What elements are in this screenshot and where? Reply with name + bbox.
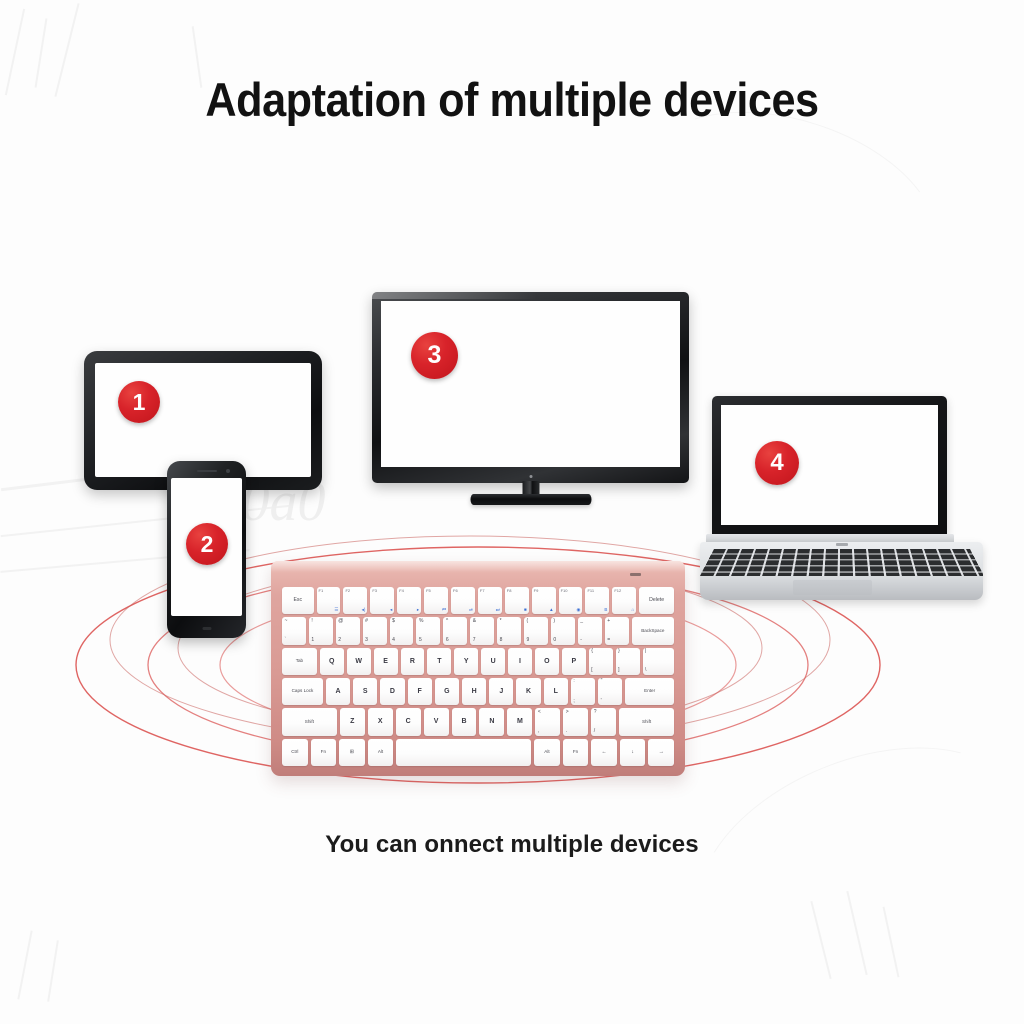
watermark-stroke <box>883 907 900 978</box>
key-h[interactable]: H <box>462 678 486 705</box>
key-label-upper: ) <box>553 619 555 624</box>
key-function-icon: ⏭ <box>496 608 500 613</box>
key-function-icon: ◉ <box>577 608 581 613</box>
key-space[interactable]: @2 <box>336 617 360 644</box>
watermark-stroke <box>5 9 25 95</box>
device-tv <box>372 292 689 483</box>
key-label-lower: [ <box>591 668 592 673</box>
key-function-icon: B <box>604 608 607 613</box>
key-label: T <box>437 658 441 665</box>
key-label: X <box>378 718 383 725</box>
key-label-lower: 4 <box>392 638 395 643</box>
key-label-lower: \ <box>645 668 646 673</box>
phone-home-indicator <box>202 627 211 630</box>
key-space[interactable]: += <box>605 617 629 644</box>
key-d[interactable]: D <box>380 678 404 705</box>
key-function-icon: ⏮ <box>442 608 446 613</box>
key-fn[interactable]: Fn <box>563 739 589 766</box>
key-label-lower: 5 <box>419 638 422 643</box>
key-s[interactable]: S <box>353 678 377 705</box>
key-label: U <box>491 658 496 665</box>
laptop-base <box>700 542 983 600</box>
key-f10[interactable]: F10◉ <box>559 587 583 614</box>
key-space[interactable]: :; <box>571 678 595 705</box>
device-badge-tv: 3 <box>411 332 458 379</box>
key-space[interactable]: ⊞ <box>339 739 365 766</box>
key-function-icon: ◂ <box>390 608 392 613</box>
device-badge-tablet: 1 <box>118 381 160 423</box>
key-label: F4 <box>399 589 404 593</box>
key-function-icon: ⌂ <box>632 608 635 613</box>
key-label-lower: / <box>594 729 595 734</box>
key-n[interactable]: N <box>479 708 504 735</box>
key-label-lower: ' <box>601 699 602 704</box>
key-label: M <box>517 718 523 725</box>
key-f8[interactable]: F8■ <box>505 587 529 614</box>
keyboard-row: ShiftZXCVBNM<,>.?/Shift <box>282 708 674 735</box>
key-label-lower: 0 <box>553 638 556 643</box>
product-infographic: D esign \u00a0 Adaptation of multiple de… <box>0 0 1024 1024</box>
key-label: F3 <box>372 589 377 593</box>
key-space[interactable]: → <box>648 739 674 766</box>
key-label-lower: - <box>580 638 582 643</box>
device-badge-phone: 2 <box>186 523 228 565</box>
tv-power-led-icon <box>529 475 532 478</box>
key-f4[interactable]: F4▸ <box>397 587 421 614</box>
key-space[interactable]: ↓ <box>620 739 646 766</box>
key-m[interactable]: M <box>507 708 532 735</box>
key-space[interactable]: #3 <box>363 617 387 644</box>
watermark-stroke <box>1 505 290 537</box>
key-l[interactable]: L <box>544 678 568 705</box>
key-label: F12 <box>614 589 621 593</box>
page-title: Adaptation of multiple devices <box>41 72 983 127</box>
page-caption: You can onnect multiple devices <box>0 831 1024 859</box>
key-label: F5 <box>426 589 431 593</box>
key-label: P <box>571 658 576 665</box>
key-space[interactable]: >. <box>563 708 588 735</box>
key-space[interactable]: }] <box>616 648 640 675</box>
key-ctrl[interactable]: Ctrl <box>282 739 308 766</box>
key-label: I <box>519 658 521 665</box>
key-label-upper: ^ <box>446 619 448 624</box>
key-i[interactable]: I <box>508 648 532 675</box>
key-shift[interactable]: Shift <box>282 708 337 735</box>
key-space[interactable]: ← <box>591 739 617 766</box>
key-label-upper: | <box>645 649 646 654</box>
key-label: Caps Lock <box>292 689 314 694</box>
key-x[interactable]: X <box>368 708 393 735</box>
key-label-upper: " <box>601 679 603 684</box>
key-caps-lock[interactable]: Caps Lock <box>282 678 323 705</box>
key-label: G <box>444 688 449 695</box>
key-b[interactable]: B <box>452 708 477 735</box>
key-function-icon: ▸ <box>417 608 419 613</box>
key-space[interactable]: *8 <box>497 617 521 644</box>
key-label-upper: % <box>419 619 423 624</box>
key-space[interactable]: ^6 <box>443 617 467 644</box>
key-v[interactable]: V <box>424 708 449 735</box>
key-label-upper: : <box>573 679 574 684</box>
key-f6[interactable]: F6⏯ <box>451 587 475 614</box>
key-space[interactable]: <, <box>535 708 560 735</box>
key-label: R <box>410 658 415 665</box>
key-f3[interactable]: F3◂ <box>370 587 394 614</box>
key-tab[interactable]: Tab <box>282 648 317 675</box>
key-label-lower: 6 <box>446 638 449 643</box>
key-space[interactable]: (9 <box>524 617 548 644</box>
key-label: Shift <box>305 720 314 725</box>
laptop-keyboard-rows <box>700 549 983 576</box>
key-e[interactable]: E <box>374 648 398 675</box>
key-f1[interactable]: F1☰ <box>317 587 341 614</box>
key-label: W <box>355 658 362 665</box>
key-g[interactable]: G <box>435 678 459 705</box>
key-f7[interactable]: F7⏭ <box>478 587 502 614</box>
key-shift[interactable]: Shift <box>619 708 674 735</box>
key-label: A <box>335 688 340 695</box>
key-label: F6 <box>453 589 458 593</box>
key-label: Enter <box>644 689 655 694</box>
key-label: F <box>418 688 422 695</box>
key-y[interactable]: Y <box>454 648 478 675</box>
key-label: C <box>406 718 411 725</box>
key-label: Esc <box>293 598 302 603</box>
key-f5[interactable]: F5⏮ <box>424 587 448 614</box>
key-space[interactable]: $4 <box>390 617 414 644</box>
key-label: H <box>472 688 477 695</box>
key-label-upper: ~ <box>285 619 288 624</box>
key-a[interactable]: A <box>326 678 350 705</box>
key-space[interactable]: %5 <box>416 617 440 644</box>
key-label-upper: } <box>618 649 620 654</box>
keyboard-row: CtrlFn⊞AltAltFn←↓→ <box>282 739 674 766</box>
key-label: O <box>544 658 549 665</box>
key-label-lower: ; <box>573 699 574 704</box>
key-label-upper: < <box>538 710 541 715</box>
key-t[interactable]: T <box>427 648 451 675</box>
key-label-lower: 2 <box>338 638 341 643</box>
key-label: S <box>363 688 368 695</box>
key-f2[interactable]: F2◂) <box>343 587 367 614</box>
key-k[interactable]: K <box>516 678 540 705</box>
key-label-lower: 7 <box>473 638 476 643</box>
bluetooth-keyboard[interactable]: EscF1☰F2◂)F3◂F4▸F5⏮F6⏯F7⏭F8■F9▲F10◉F11BF… <box>271 561 685 776</box>
key-label: ← <box>602 750 607 755</box>
key-label: B <box>461 718 466 725</box>
key-label-lower: ` <box>285 638 287 643</box>
laptop-trackpad <box>793 580 872 595</box>
key-function-icon: ▲ <box>549 608 553 613</box>
key-label: Alt <box>378 750 383 755</box>
key-label-lower: 3 <box>365 638 368 643</box>
key-label: K <box>526 688 531 695</box>
key-label: Delete <box>649 598 664 603</box>
key-function-icon: ⏯ <box>469 608 473 613</box>
key-space[interactable]: _- <box>578 617 602 644</box>
key-space[interactable]: ~` <box>282 617 306 644</box>
watermark-stroke <box>846 891 867 975</box>
key-label: → <box>659 750 664 755</box>
key-label: F10 <box>561 589 568 593</box>
key-f12[interactable]: F12⌂ <box>612 587 636 614</box>
key-z[interactable]: Z <box>340 708 365 735</box>
key-w[interactable]: W <box>347 648 371 675</box>
key-label-upper: _ <box>580 619 583 624</box>
key-label-upper: { <box>591 649 593 654</box>
laptop-screen <box>721 405 938 525</box>
key-label-upper: ( <box>527 619 529 624</box>
key-label-upper: * <box>500 619 502 624</box>
key-space[interactable]: ?/ <box>591 708 616 735</box>
key-j[interactable]: J <box>489 678 513 705</box>
key-label: D <box>390 688 395 695</box>
key-q[interactable]: Q <box>320 648 344 675</box>
key-label: F2 <box>345 589 350 593</box>
key-label: F9 <box>534 589 539 593</box>
watermark-curve <box>665 703 1024 1018</box>
key-o[interactable]: O <box>535 648 559 675</box>
keyboard-status-led-icon <box>630 573 641 576</box>
keyboard-row: EscF1☰F2◂)F3◂F4▸F5⏮F6⏯F7⏭F8■F9▲F10◉F11BF… <box>282 587 674 614</box>
key-label-upper: + <box>607 619 610 624</box>
key-alt[interactable]: Alt <box>534 739 560 766</box>
key-label: ⊞ <box>350 750 354 755</box>
key-label: Z <box>350 718 354 725</box>
key-label: F7 <box>480 589 485 593</box>
key-alt[interactable]: Alt <box>368 739 394 766</box>
key-label: Shift <box>642 720 651 725</box>
tv-screen <box>381 301 680 467</box>
key-label-upper: & <box>473 619 476 624</box>
key-label-lower: 8 <box>500 638 503 643</box>
key-u[interactable]: U <box>481 648 505 675</box>
key-label-upper: @ <box>338 619 343 624</box>
key-spacebar[interactable] <box>396 739 531 766</box>
key-label: Ctrl <box>291 750 298 755</box>
key-delete[interactable]: Delete <box>639 587 674 614</box>
keyboard-row: Caps LockASDFGHJKL:;"'Enter <box>282 678 674 705</box>
key-label-upper: ! <box>311 619 312 624</box>
watermark-stroke <box>17 930 32 999</box>
key-label-upper: # <box>365 619 368 624</box>
laptop-logo <box>836 543 848 546</box>
key-label: Tab <box>296 659 303 664</box>
key-space[interactable]: {[ <box>589 648 613 675</box>
watermark-stroke <box>47 940 59 1002</box>
key-label: BackSpace <box>641 629 664 634</box>
key-esc[interactable]: Esc <box>282 587 314 614</box>
key-label: F11 <box>587 589 594 593</box>
device-badge-laptop: 4 <box>755 441 799 485</box>
key-label: V <box>434 718 439 725</box>
key-label: Fn <box>321 750 326 755</box>
phone-speaker <box>197 470 217 472</box>
device-laptop <box>700 396 990 606</box>
key-label-lower: 9 <box>527 638 530 643</box>
key-label: ↓ <box>631 750 634 755</box>
watermark-stroke <box>810 901 831 979</box>
laptop-lid <box>712 396 947 536</box>
key-r[interactable]: R <box>401 648 425 675</box>
key-label: Q <box>329 658 334 665</box>
key-label: Fn <box>573 750 578 755</box>
key-function-icon: ■ <box>524 608 527 613</box>
key-p[interactable]: P <box>562 648 586 675</box>
key-label-lower: , <box>538 729 539 734</box>
keyboard-row: ~`!1@2#3$4%5^6&7*8(9)0_-+=BackSpace <box>282 617 674 644</box>
key-function-icon: ◂) <box>362 608 366 613</box>
key-function-icon: ☰ <box>334 608 338 613</box>
key-space[interactable]: !1 <box>309 617 333 644</box>
key-label-upper: > <box>566 710 569 715</box>
keyboard-top-highlight <box>271 561 685 572</box>
key-label: J <box>499 688 503 695</box>
key-f11[interactable]: F11B <box>585 587 609 614</box>
key-label-upper: ? <box>594 710 597 715</box>
key-label: N <box>489 718 494 725</box>
key-label-lower: = <box>607 638 610 643</box>
key-label: E <box>383 658 388 665</box>
key-space[interactable]: )0 <box>551 617 575 644</box>
key-label-lower: 1 <box>311 638 314 643</box>
key-label: F8 <box>507 589 512 593</box>
key-label: L <box>554 688 558 695</box>
key-enter[interactable]: Enter <box>625 678 674 705</box>
key-backspace[interactable]: BackSpace <box>632 617 674 644</box>
key-c[interactable]: C <box>396 708 421 735</box>
key-label: F1 <box>319 589 324 593</box>
key-label: Y <box>464 658 469 665</box>
tv-stand-base <box>470 494 591 505</box>
key-space[interactable]: &7 <box>470 617 494 644</box>
key-fn[interactable]: Fn <box>311 739 337 766</box>
key-label-upper: $ <box>392 619 395 624</box>
key-f9[interactable]: F9▲ <box>532 587 556 614</box>
key-label-lower: . <box>566 729 567 734</box>
keyboard-keys[interactable]: EscF1☰F2◂)F3◂F4▸F5⏮F6⏯F7⏭F8■F9▲F10◉F11BF… <box>282 587 674 766</box>
keyboard-row: TabQWERTYUIOP{[}]|\ <box>282 648 674 675</box>
key-f[interactable]: F <box>408 678 432 705</box>
key-space[interactable]: "' <box>598 678 622 705</box>
key-space[interactable]: |\ <box>643 648 675 675</box>
key-label-lower: ] <box>618 668 619 673</box>
key-label: Alt <box>544 750 549 755</box>
phone-camera-icon <box>226 469 230 473</box>
